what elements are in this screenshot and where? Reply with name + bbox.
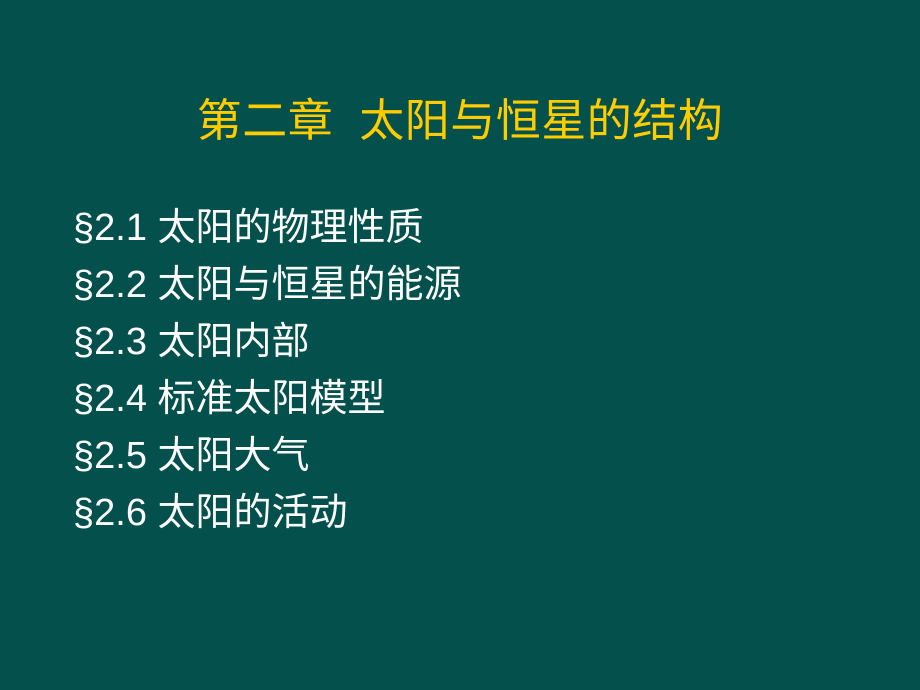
slide-title: 第二章 太阳与恒星的结构 (0, 93, 920, 149)
outline-item-2-5: §2.5 太阳大气 (73, 428, 833, 485)
outline-item-2-1: §2.1 太阳的物理性质 (73, 200, 833, 257)
slide-outline-list: §2.1 太阳的物理性质 §2.2 太阳与恒星的能源 §2.3 太阳内部 §2.… (73, 200, 833, 542)
outline-item-2-6: §2.6 太阳的活动 (73, 485, 833, 542)
outline-item-2-4: §2.4 标准太阳模型 (73, 371, 833, 428)
presentation-slide: 第二章 太阳与恒星的结构 §2.1 太阳的物理性质 §2.2 太阳与恒星的能源 … (0, 0, 920, 690)
outline-item-2-2: §2.2 太阳与恒星的能源 (73, 257, 833, 314)
outline-item-2-3: §2.3 太阳内部 (73, 314, 833, 371)
